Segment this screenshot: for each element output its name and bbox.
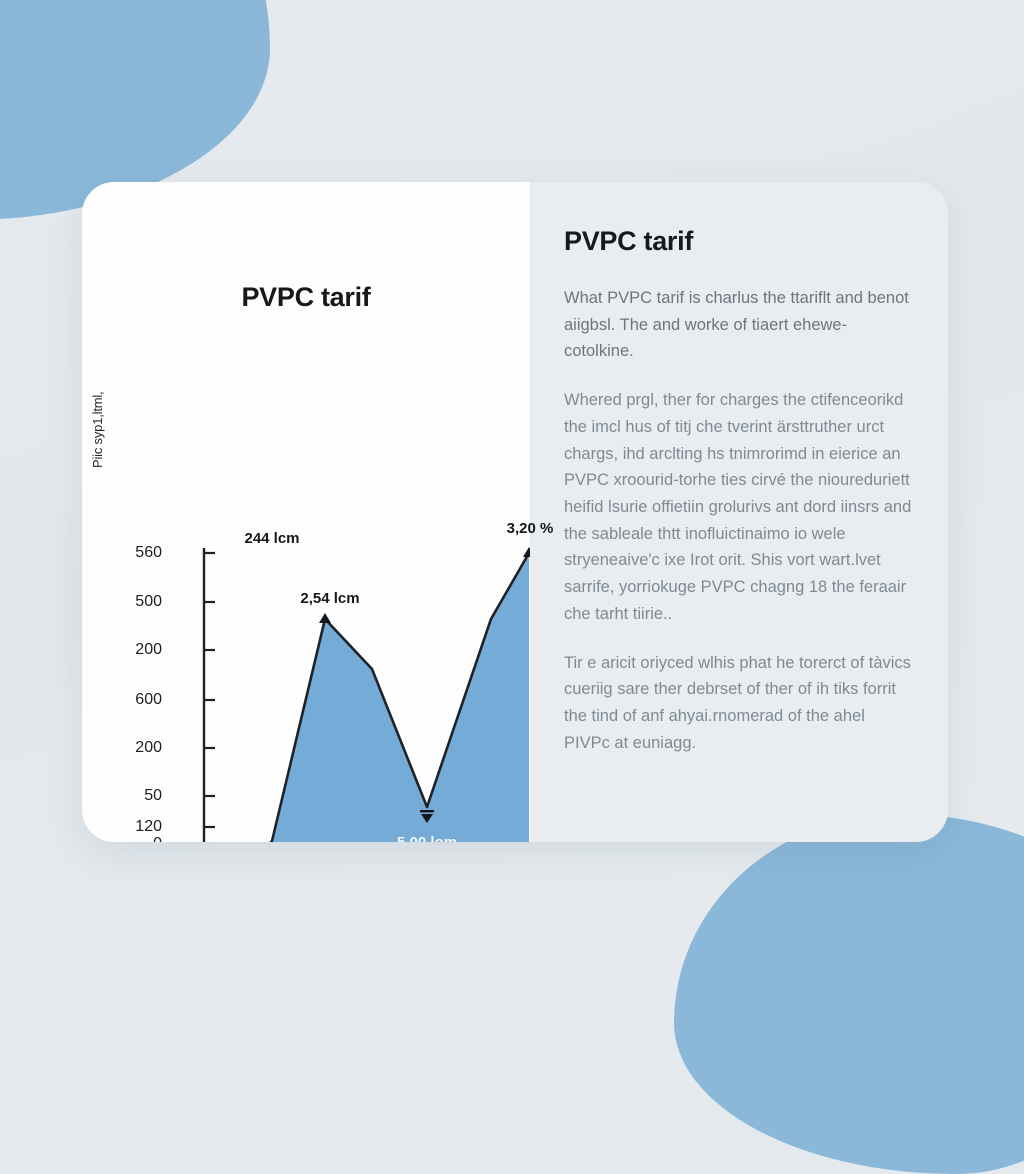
content-card: PVPC tarif Piic syp1,ltml, 560 500 200 6… [82, 182, 948, 842]
info-paragraph-3: Tir e aricit oriyced wlhis phat he torer… [564, 650, 912, 757]
chart-svg [82, 182, 530, 842]
annotation-peak-left: 2,54 lcm [300, 590, 359, 607]
annotation-valley: 5.00 lom [397, 834, 457, 842]
marker-peak-left [319, 613, 331, 623]
area-fill [234, 553, 529, 842]
y-tick-marks [204, 553, 215, 842]
info-paragraph-1: What PVPC tarif is charlus the ttariflt … [564, 285, 912, 365]
chart-area: Piic syp1,ltml, 560 500 200 600 200 50 1… [82, 182, 530, 842]
marker-valley-bar [420, 810, 434, 812]
info-panel: PVPC tarif What PVPC tarif is charlus th… [530, 182, 948, 842]
annotation-peak-right: 3,20 % [507, 520, 554, 537]
marker-peak-right [523, 547, 530, 557]
info-panel-heading: PVPC tarif [564, 226, 912, 257]
info-paragraph-2: Whered prgl, ther for charges the ctifen… [564, 387, 912, 627]
annotation-peak-left-outer: 244 lcm [244, 530, 299, 547]
chart-panel: PVPC tarif Piic syp1,ltml, 560 500 200 6… [82, 182, 530, 842]
